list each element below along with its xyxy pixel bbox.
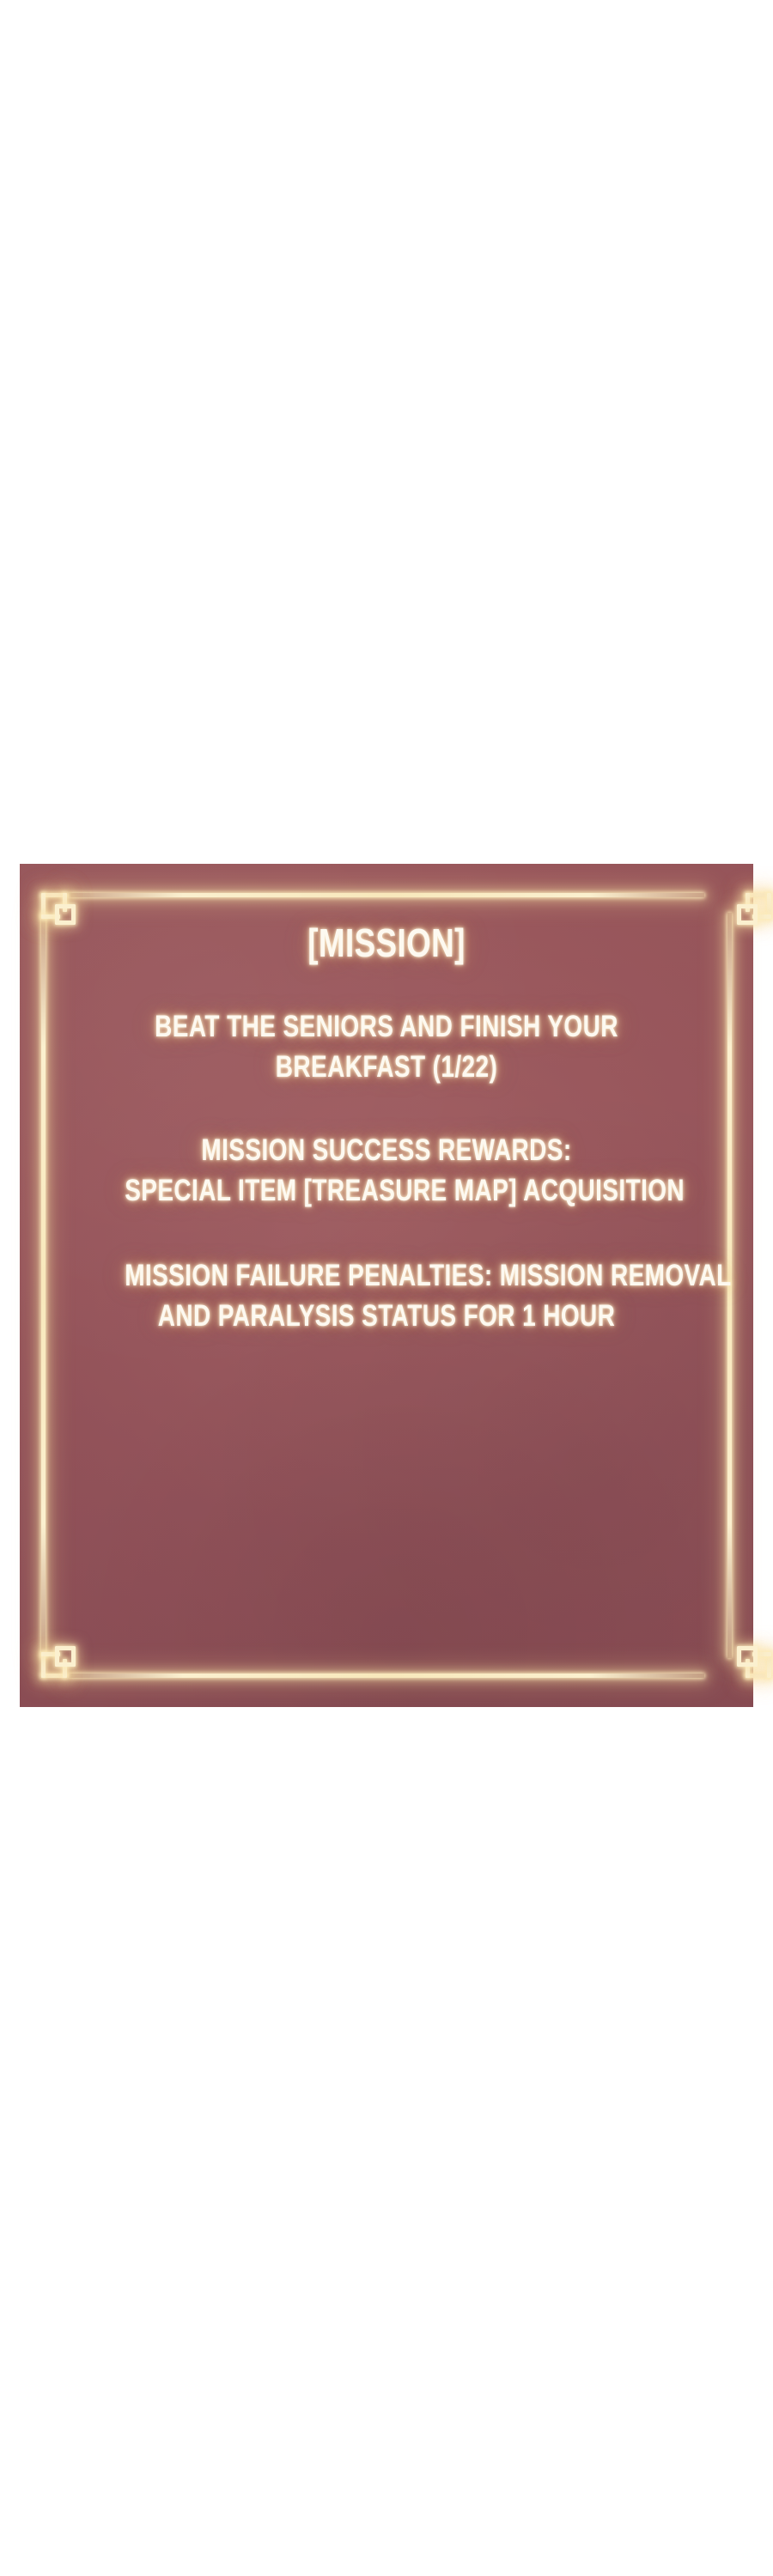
mission-panel-title: [MISSION] — [125, 915, 648, 965]
mission-rewards-block: MISSION SUCCESS REWARDS: SPECIAL ITEM [T… — [59, 1130, 714, 1211]
mission-objective-block: BEAT THE SENIORS AND FINISH YOUR BREAKFA… — [59, 1006, 714, 1087]
frame-bottom-rail — [69, 1674, 704, 1678]
frame-top-rail — [69, 893, 704, 897]
corner-ornament-bottom-right-icon — [728, 1635, 773, 1680]
corner-knot-square — [737, 1646, 758, 1667]
rewards-line-1: SPECIAL ITEM [TREASURE MAP] ACQUISITION — [125, 1170, 648, 1211]
corner-ornament-bottom-left-icon — [40, 1635, 84, 1680]
frame-left-rail — [41, 913, 46, 1658]
penalties-line-1: MISSION FAILURE PENALTIES: MISSION REMOV… — [125, 1255, 648, 1296]
mission-panel: [MISSION] BEAT THE SENIORS AND FINISH YO… — [20, 864, 753, 1707]
page-canvas: [MISSION] BEAT THE SENIORS AND FINISH YO… — [0, 0, 773, 2576]
corner-knot-square — [55, 1646, 76, 1667]
mission-penalties-block: MISSION FAILURE PENALTIES: MISSION REMOV… — [59, 1255, 714, 1336]
corner-ornament-top-right-icon — [728, 891, 773, 936]
corner-knot-square — [737, 904, 758, 925]
mission-text-content: [MISSION] BEAT THE SENIORS AND FINISH YO… — [59, 915, 714, 1336]
objective-line-2: BREAKFAST (1/22) — [125, 1047, 648, 1087]
rewards-heading: MISSION SUCCESS REWARDS: — [125, 1130, 648, 1170]
penalties-line-2: AND PARALYSIS STATUS FOR 1 HOUR — [125, 1296, 648, 1336]
objective-line-1: BEAT THE SENIORS AND FINISH YOUR — [125, 1006, 648, 1047]
